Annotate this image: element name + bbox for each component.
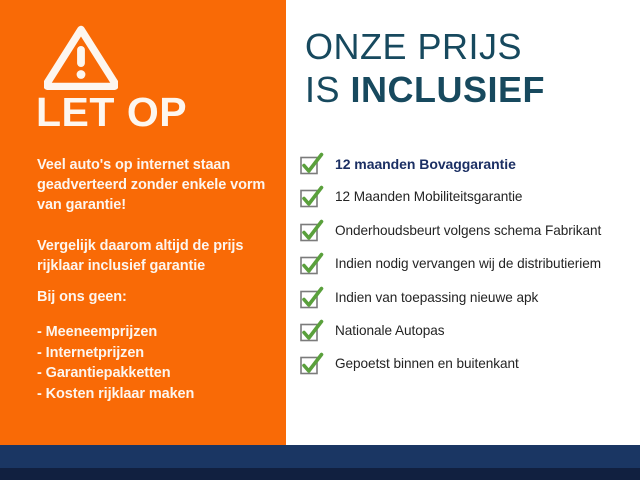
feature-label: Indien nodig vervangen wij de distributi… (335, 252, 601, 274)
checkbox-checked-icon (300, 153, 324, 175)
included-features-list: 12 maanden Bovaggarantie 12 Maanden Mobi… (300, 152, 640, 386)
list-item: Gepoetst binnen en buitenkant (300, 352, 640, 385)
checkbox-checked-icon (300, 287, 324, 309)
list-item: Indien nodig vervangen wij de distributi… (300, 252, 640, 285)
checkbox-checked-icon (300, 320, 324, 342)
warning-triangle-icon (44, 24, 118, 90)
list-item: Onderhoudsbeurt volgens schema Fabrikant (300, 219, 640, 252)
checkbox-checked-icon (300, 186, 324, 208)
checkbox-checked-icon (300, 253, 324, 275)
warning-paragraph-2: Vergelijk daarom altijd de prijs rijklaa… (37, 236, 277, 276)
list-item: 12 maanden Bovaggarantie (300, 152, 640, 185)
price-heading-line-1: ONZE PRIJS (305, 26, 545, 67)
page-title: LET OP (36, 92, 187, 133)
exclusions-list: - Meeneemprijzen - Internetprijzen - Gar… (37, 322, 277, 404)
list-item: - Meeneemprijzen (37, 322, 277, 343)
inclusive-price-panel: ONZE PRIJS IS INCLUSIEF 12 maanden Bovag… (286, 0, 640, 445)
feature-label: 12 Maanden Mobiliteitsgarantie (335, 185, 522, 207)
list-item: 12 Maanden Mobiliteitsgarantie (300, 185, 640, 218)
list-item: Nationale Autopas (300, 319, 640, 352)
promotional-banner: LET OP Veel auto's op internet staan gea… (0, 0, 640, 480)
feature-label: Nationale Autopas (335, 319, 445, 341)
list-item: - Garantiepakketten (37, 363, 277, 384)
checkbox-checked-icon (300, 220, 324, 242)
list-item: - Kosten rijklaar maken (37, 384, 277, 405)
feature-label: 12 maanden Bovaggarantie (335, 152, 516, 174)
price-heading-prefix: IS (305, 69, 351, 110)
feature-label: Indien van toepassing nieuwe apk (335, 286, 538, 308)
checkbox-checked-icon (300, 353, 324, 375)
warning-panel: LET OP Veel auto's op internet staan gea… (0, 0, 286, 445)
list-item: - Internetprijzen (37, 343, 277, 364)
price-heading-line-2: IS INCLUSIEF (305, 69, 545, 110)
price-heading-emphasis: INCLUSIEF (351, 69, 546, 110)
list-item: Indien van toepassing nieuwe apk (300, 286, 640, 319)
feature-label: Onderhoudsbeurt volgens schema Fabrikant (335, 219, 601, 241)
warning-paragraph-3: Bij ons geen: (37, 287, 277, 307)
warning-paragraph-1: Veel auto's op internet staan geadvertee… (37, 155, 277, 215)
price-heading: ONZE PRIJS IS INCLUSIEF (305, 26, 545, 110)
bottom-accent-bar (0, 445, 640, 468)
bottom-accent-bar-dark (0, 468, 640, 480)
feature-label: Gepoetst binnen en buitenkant (335, 352, 519, 374)
